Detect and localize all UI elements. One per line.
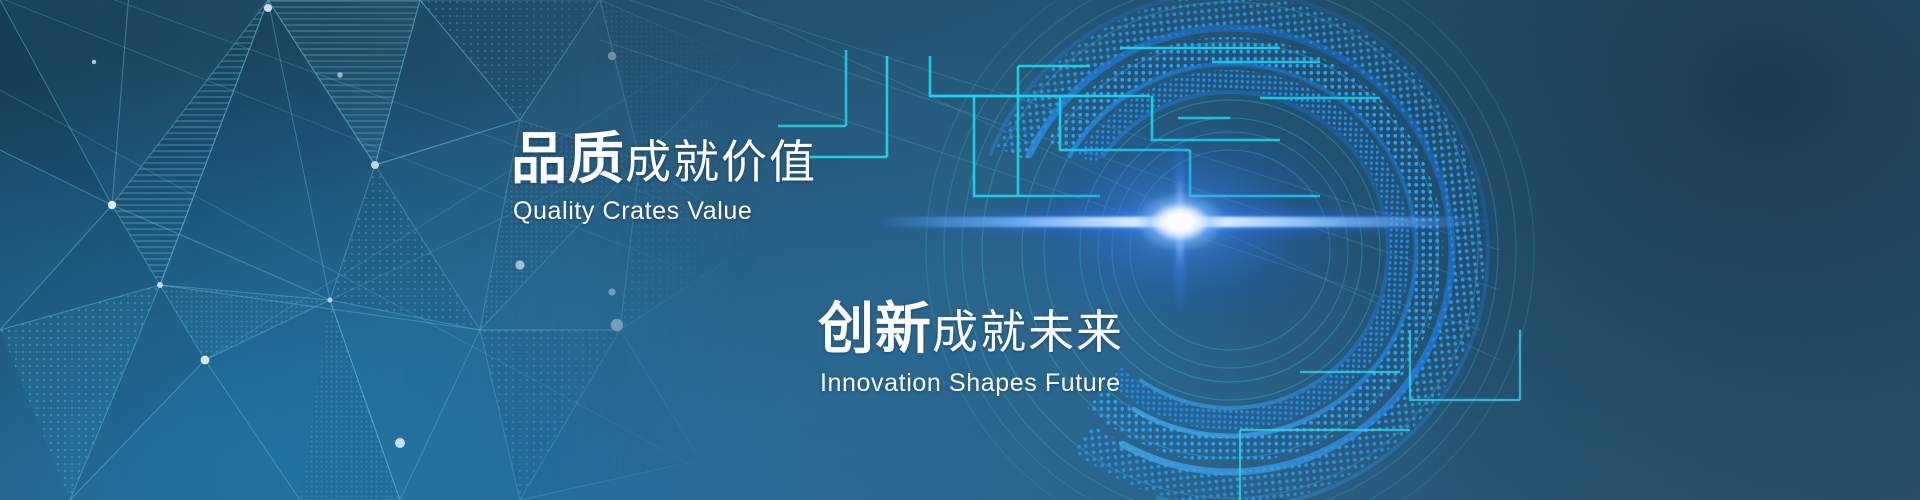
headline-innovation: 创新成就未来 [818, 300, 1124, 359]
flare-core [1134, 192, 1226, 252]
headline-quality: 品质成就价值 [511, 130, 817, 189]
subline-quality: Quality Crates Value [513, 197, 817, 226]
hero-banner: 品质成就价值 Quality Crates Value 创新成就未来 Innov… [0, 0, 1920, 500]
headline-innovation-strong: 创新 [818, 297, 932, 360]
headline-quality-light: 成就价值 [625, 136, 817, 188]
message-block-quality: 品质成就价值 Quality Crates Value [511, 130, 817, 226]
headline-innovation-light: 成就未来 [932, 306, 1124, 358]
subline-innovation: Innovation Shapes Future [820, 369, 1124, 398]
message-block-innovation: 创新成就未来 Innovation Shapes Future [818, 300, 1124, 398]
headline-quality-strong: 品质 [511, 127, 625, 190]
